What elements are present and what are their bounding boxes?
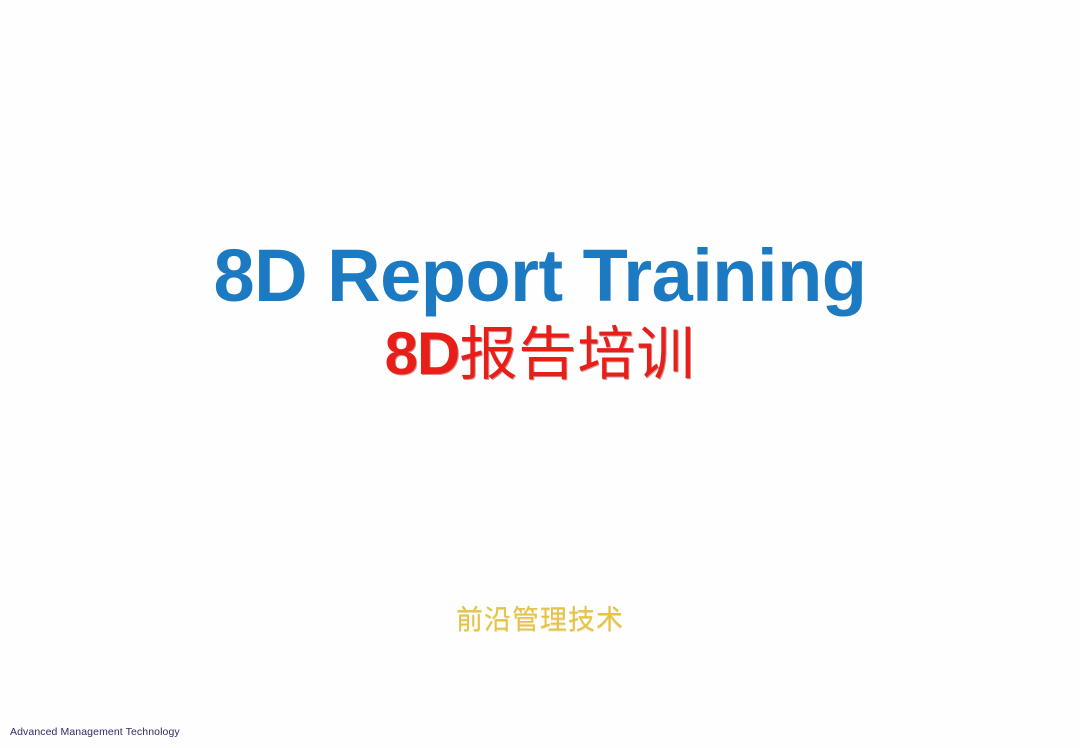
title-chinese-prefix: 8D xyxy=(385,320,460,387)
title-english: 8D Report Training xyxy=(0,236,1080,316)
title-block: 8D Report Training 8D报告培训 xyxy=(0,236,1080,390)
title-slide: 8D Report Training 8D报告培训 前沿管理技术 Advance… xyxy=(0,0,1080,748)
title-chinese-han: 报告培训 xyxy=(459,320,695,388)
subtitle-caption: 前沿管理技术 xyxy=(0,604,1080,638)
title-chinese: 8D报告培训 xyxy=(0,318,1080,390)
footer-branding: Advanced Management Technology xyxy=(10,726,180,739)
